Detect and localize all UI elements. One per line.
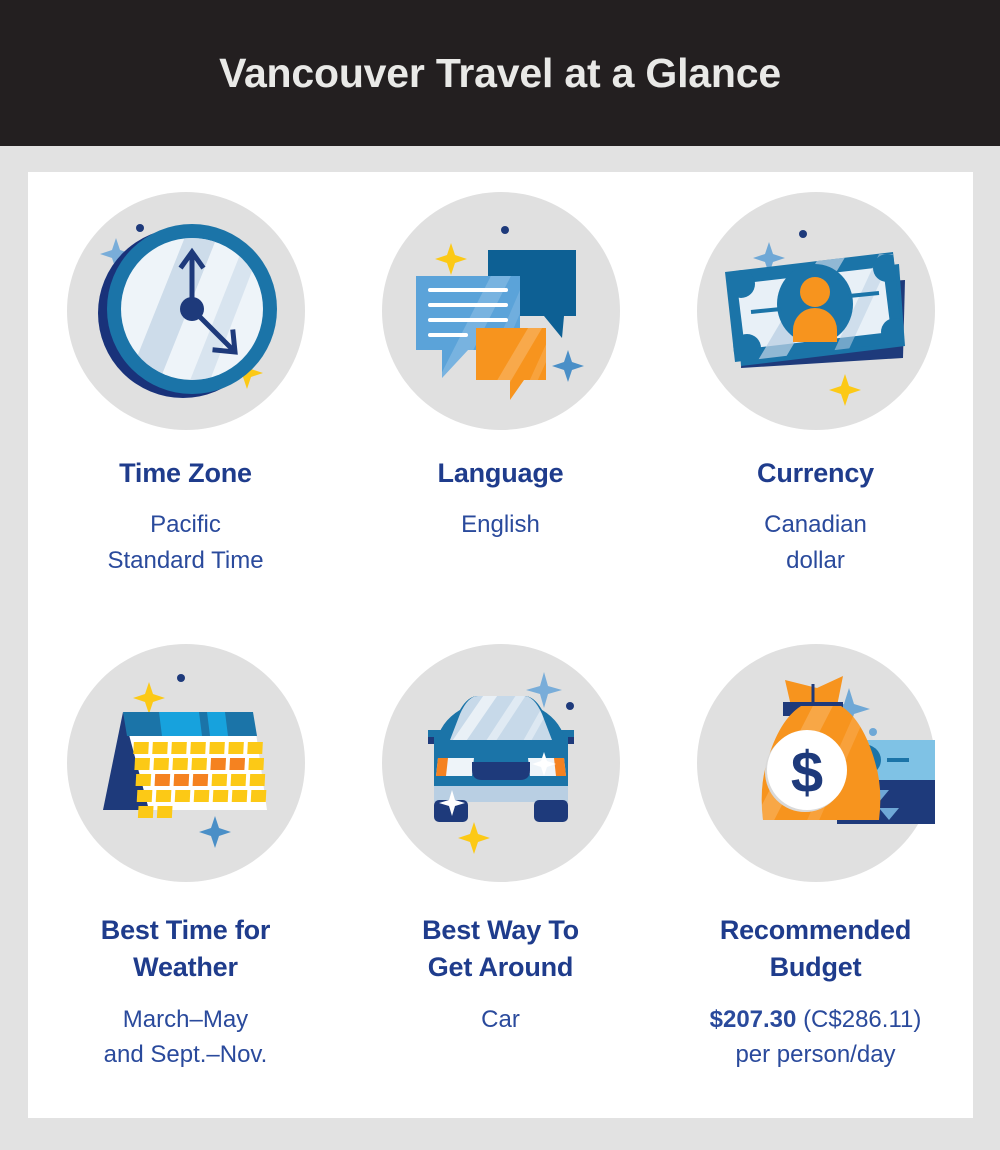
fact-value: Canadian dollar bbox=[764, 507, 867, 578]
speech-bubbles-icon bbox=[382, 192, 620, 430]
budget-rate-line: per person/day bbox=[710, 1037, 922, 1073]
facts-grid: Time Zone Pacific Standard Time bbox=[28, 172, 973, 1118]
fact-card-time-zone: Time Zone Pacific Standard Time bbox=[28, 172, 343, 602]
money-bag-icon: $ bbox=[697, 644, 935, 882]
fact-value-line: March–May bbox=[104, 1002, 268, 1038]
fact-title: Currency bbox=[757, 455, 874, 492]
fact-value: English bbox=[461, 507, 540, 543]
car-icon bbox=[382, 644, 620, 882]
page-title: Vancouver Travel at a Glance bbox=[219, 53, 781, 94]
fact-card-best-weather: Best Time for Weather March–May and Sept… bbox=[28, 630, 343, 1060]
fact-title: Time Zone bbox=[119, 455, 252, 492]
fact-title-line: Best Way To bbox=[422, 912, 579, 949]
budget-amount-line: $207.30 (C$286.11) bbox=[710, 1002, 922, 1038]
fact-value-line: English bbox=[461, 507, 540, 543]
fact-title: Language bbox=[438, 455, 564, 492]
fact-card-budget: $ Recommended Budget $207.30 (C$286.11) … bbox=[658, 630, 973, 1060]
fact-value-line: dollar bbox=[764, 543, 867, 579]
fact-value-line: and Sept.–Nov. bbox=[104, 1037, 268, 1073]
fact-title-line: Budget bbox=[720, 949, 911, 986]
fact-value: Car bbox=[481, 1002, 520, 1038]
calendar-icon bbox=[67, 644, 305, 882]
fact-title-line: Recommended bbox=[720, 912, 911, 949]
fact-title-line: Best Time for bbox=[101, 912, 270, 949]
fact-card-currency: Currency Canadian dollar bbox=[658, 172, 973, 602]
fact-value-line: Canadian bbox=[764, 507, 867, 543]
budget-amount-cad: (C$286.11) bbox=[803, 1006, 921, 1033]
fact-title: Best Time for Weather bbox=[101, 912, 270, 987]
fact-card-language: Language English bbox=[343, 172, 658, 602]
fact-card-transport: Best Way To Get Around Car bbox=[343, 630, 658, 1060]
fact-value-line: Pacific bbox=[107, 507, 263, 543]
fact-title-line: Weather bbox=[101, 949, 270, 986]
budget-amount-usd: $207.30 bbox=[710, 1006, 797, 1033]
infographic-page: Vancouver Travel at a Glance bbox=[0, 0, 1000, 1150]
fact-title-line: Get Around bbox=[422, 949, 579, 986]
fact-value: $207.30 (C$286.11) per person/day bbox=[710, 1002, 922, 1073]
content-card: Time Zone Pacific Standard Time bbox=[28, 172, 973, 1118]
fact-title: Best Way To Get Around bbox=[422, 912, 579, 987]
banknotes-icon bbox=[697, 192, 935, 430]
fact-value: March–May and Sept.–Nov. bbox=[104, 1002, 268, 1073]
fact-value-line: Standard Time bbox=[107, 543, 263, 579]
fact-title: Recommended Budget bbox=[720, 912, 911, 987]
svg-text:$: $ bbox=[790, 740, 822, 805]
fact-value: Pacific Standard Time bbox=[107, 507, 263, 578]
header-bar: Vancouver Travel at a Glance bbox=[0, 0, 1000, 146]
clock-icon bbox=[67, 192, 305, 430]
fact-value-line: Car bbox=[481, 1002, 520, 1038]
